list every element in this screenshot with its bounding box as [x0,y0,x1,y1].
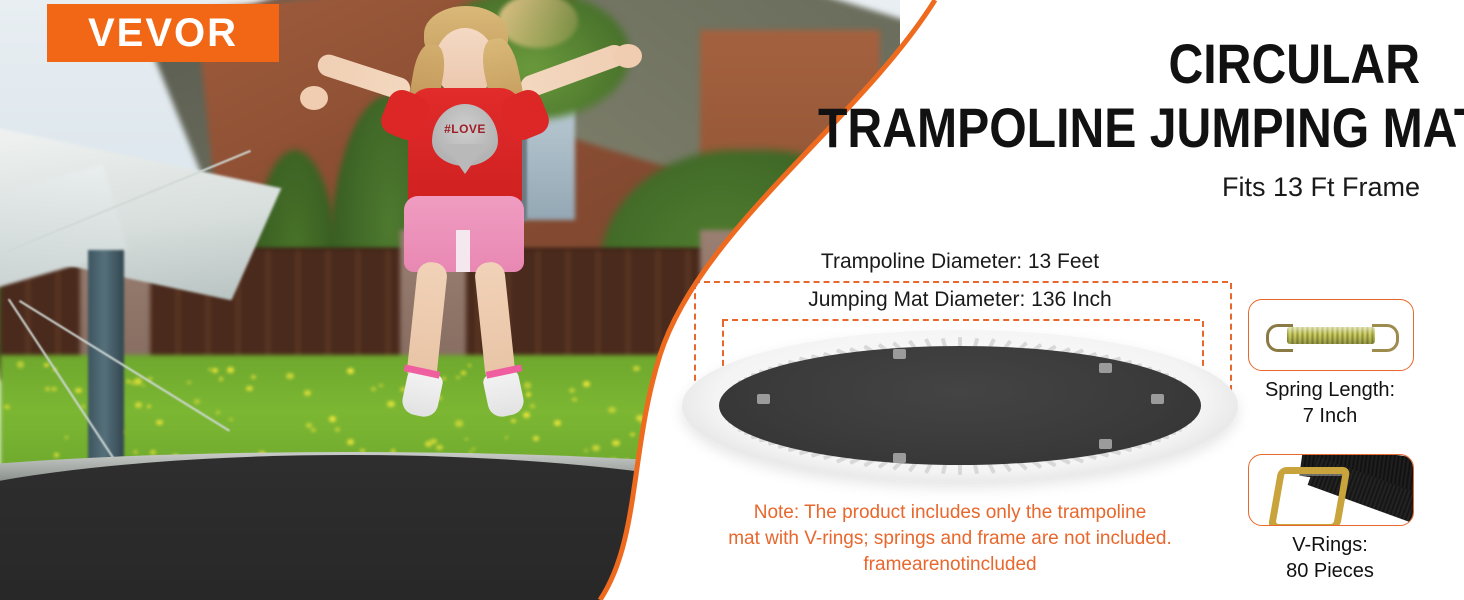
girl-shorts [404,196,524,272]
headline-subtitle: Fits 13 Ft Frame [720,172,1420,203]
mat-fabric-surface [719,346,1201,465]
spring-spec-caption: Spring Length: 7 Inch [1230,377,1430,429]
girl-hand-right [614,44,642,68]
girl-hand-left [300,86,328,110]
vring-caption-line1: V-Rings: [1230,532,1430,558]
spring-spec-card [1248,299,1414,371]
spring-caption-line2: 7 Inch [1230,403,1430,429]
note-line-1: Note: The product includes only the tram… [650,500,1250,526]
headline-line1: CIRCULAR [818,36,1420,92]
note-line-2: mat with V-rings; springs and frame are … [650,526,1250,552]
product-note: Note: The product includes only the tram… [650,500,1250,579]
v-ring-spec-caption: V-Rings: 80 Pieces [1230,532,1430,584]
headline-block: CIRCULAR TRAMPOLINE JUMPING MAT Fits 13 … [720,36,1420,203]
spring-caption-line1: Spring Length: [1230,377,1430,403]
jumping-mat-product-image [682,330,1238,482]
spring-coil-shading [1287,327,1375,344]
product-banner: #LOVE VEVOR CIRCULAR TRAMPOLINE JUMPING … [0,0,1464,600]
spring-hook-right-icon [1372,324,1399,352]
v-ring-spec-card [1248,454,1414,526]
shirt-love-text: #LOVE [438,122,492,136]
note-line-3: framearenotincluded [650,552,1250,578]
vevor-logo: VEVOR [47,4,279,62]
trampoline-diameter-label: Trampoline Diameter: 13 Feet [690,250,1230,274]
headline-line2: TRAMPOLINE JUMPING MAT [818,100,1420,156]
vring-caption-line2: 80 Pieces [1230,558,1430,584]
v-ring-metal-icon [1267,467,1350,526]
vevor-logo-text: VEVOR [88,11,238,56]
